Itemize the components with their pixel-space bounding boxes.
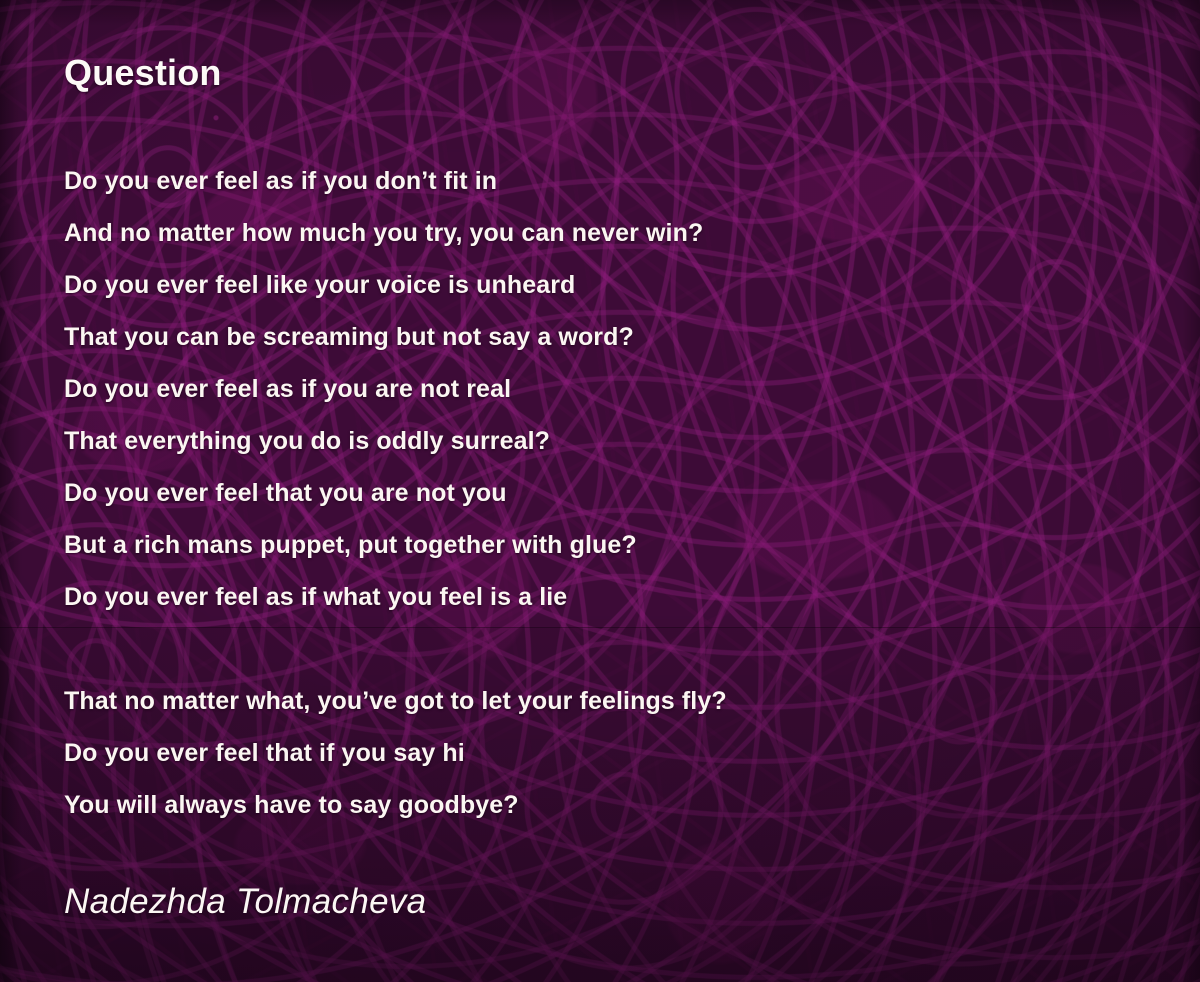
poem-line: Do you ever feel like your voice is unhe… <box>64 259 1144 311</box>
background-left-edge-shade <box>0 0 22 982</box>
poem-line: That you can be screaming but not say a … <box>64 311 1144 363</box>
background-top-edge-shade <box>0 0 1200 26</box>
poem-line: And no matter how much you try, you can … <box>64 207 1144 259</box>
background-right-edge-shade <box>1182 0 1200 982</box>
poem-line: That everything you do is oddly surreal? <box>64 415 1144 467</box>
poem-stanza-break <box>64 623 1144 675</box>
poem-line: Do you ever feel that if you say hi <box>64 727 1144 779</box>
poem-line: Do you ever feel as if what you feel is … <box>64 571 1144 623</box>
poem-line: You will always have to say goodbye? <box>64 779 1144 831</box>
poem-line: Do you ever feel as if you don’t fit in <box>64 155 1144 207</box>
poem-author: Nadezhda Tolmacheva <box>64 882 426 922</box>
poem-body: Do you ever feel as if you don’t fit in … <box>64 155 1144 831</box>
poem-line: That no matter what, you’ve got to let y… <box>64 675 1144 727</box>
poem-title: Question <box>64 52 222 94</box>
poem-line: Do you ever feel that you are not you <box>64 467 1144 519</box>
poem-image-card: Question Do you ever feel as if you don’… <box>0 0 1200 982</box>
poem-line: But a rich mans puppet, put together wit… <box>64 519 1144 571</box>
poem-line: Do you ever feel as if you are not real <box>64 363 1144 415</box>
